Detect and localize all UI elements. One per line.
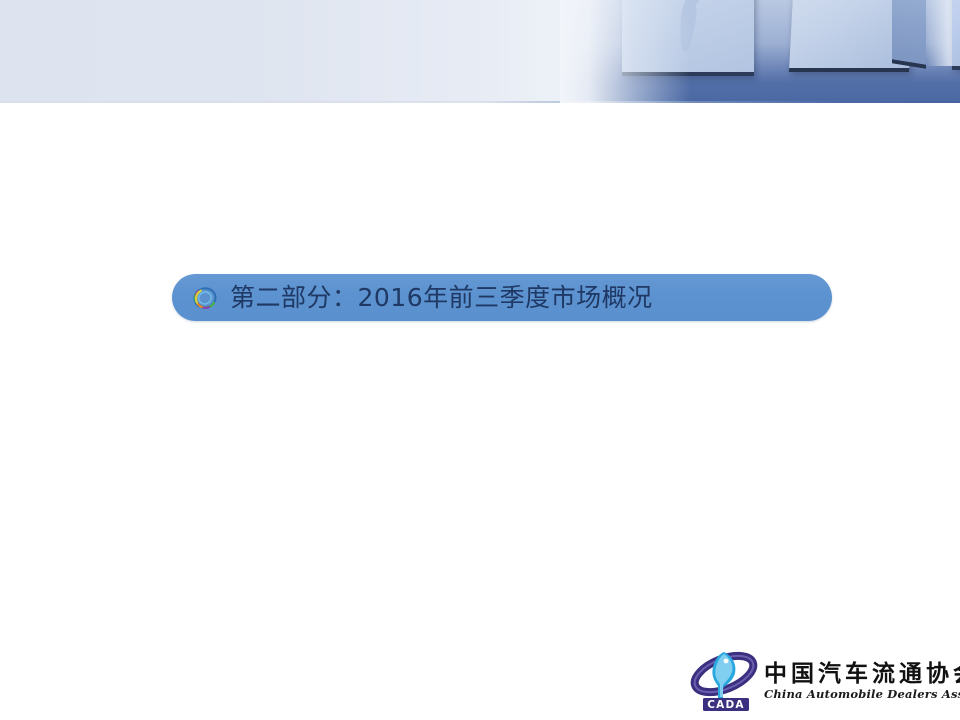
cada-logo: CADA 中国汽车流通协会 China Automobile Dealers A… — [690, 646, 956, 716]
cube-side-face — [892, 0, 926, 69]
cube-gap-highlight — [926, 0, 954, 66]
header-photo-region — [560, 0, 960, 103]
header-divider — [0, 101, 960, 103]
cube-icon — [952, 0, 960, 70]
photo-left-fade — [560, 0, 690, 103]
header-gradient-wash — [0, 0, 640, 103]
cada-abbreviation-text: CADA — [707, 699, 744, 711]
section-title-banner: 第二部分：2016年前三季度市场概况 — [172, 274, 832, 321]
rainbow-ring-icon — [190, 283, 220, 313]
slide-root: 第二部分：2016年前三季度市场概况 CADA — [0, 0, 960, 720]
cada-name-en: China Automobile Dealers Association — [764, 688, 960, 701]
cada-emblem-icon: CADA — [690, 648, 760, 714]
section-title-text: 第二部分：2016年前三季度市场概况 — [230, 285, 653, 310]
decorative-header-banner — [0, 0, 960, 103]
cada-name-cn: 中国汽车流通协会 — [764, 662, 960, 686]
cada-wordmark: 中国汽车流通协会 China Automobile Dealers Associ… — [764, 662, 960, 701]
